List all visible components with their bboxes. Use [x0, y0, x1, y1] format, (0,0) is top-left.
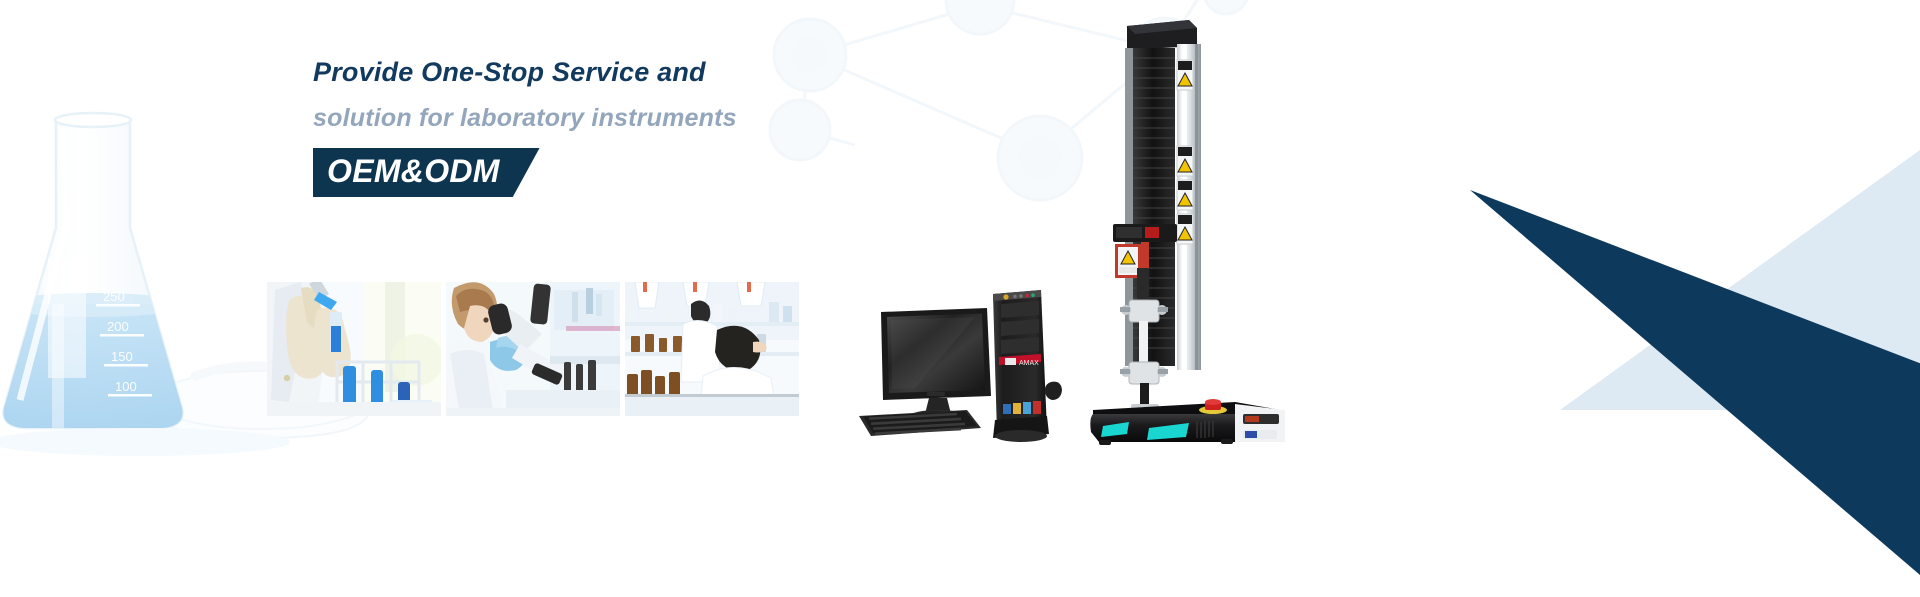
svg-text:AMAX: AMAX [1019, 360, 1039, 367]
product-desktop-computer: AMAX [855, 288, 1065, 448]
product-universal-testing-machine [1085, 18, 1300, 448]
photo-pipetting-test-tubes [267, 282, 441, 416]
svg-text:200: 200 [107, 319, 129, 334]
headline-block: Provide One-Stop Service and solution fo… [313, 58, 1073, 197]
computer-tower-icon: AMAX [993, 290, 1049, 442]
photo-microscope-analysis [446, 282, 620, 416]
svg-text:250: 250 [103, 289, 125, 304]
headline-line-2: solution for laboratory instruments [313, 105, 1073, 131]
photo-lab-workbench [625, 282, 799, 416]
erlenmeyer-flask-icon: 250 200 150 100 [0, 113, 200, 444]
svg-text:150: 150 [111, 349, 133, 364]
svg-text:100: 100 [115, 379, 137, 394]
keyboard-icon [859, 410, 981, 436]
warning-label-icon [1177, 60, 1193, 90]
oem-odm-badge: OEM&ODM [313, 148, 540, 198]
lab-photo-strip [267, 282, 799, 416]
oem-odm-badge-wrapper: OEM&ODM [313, 148, 540, 198]
monitor-icon [881, 308, 991, 422]
headline-line-1: Provide One-Stop Service and [313, 58, 1073, 86]
banner-stage: Provide One-Stop Service and solution fo… [0, 0, 1920, 597]
mouse-icon [1045, 382, 1062, 400]
machine-base [1090, 399, 1285, 445]
